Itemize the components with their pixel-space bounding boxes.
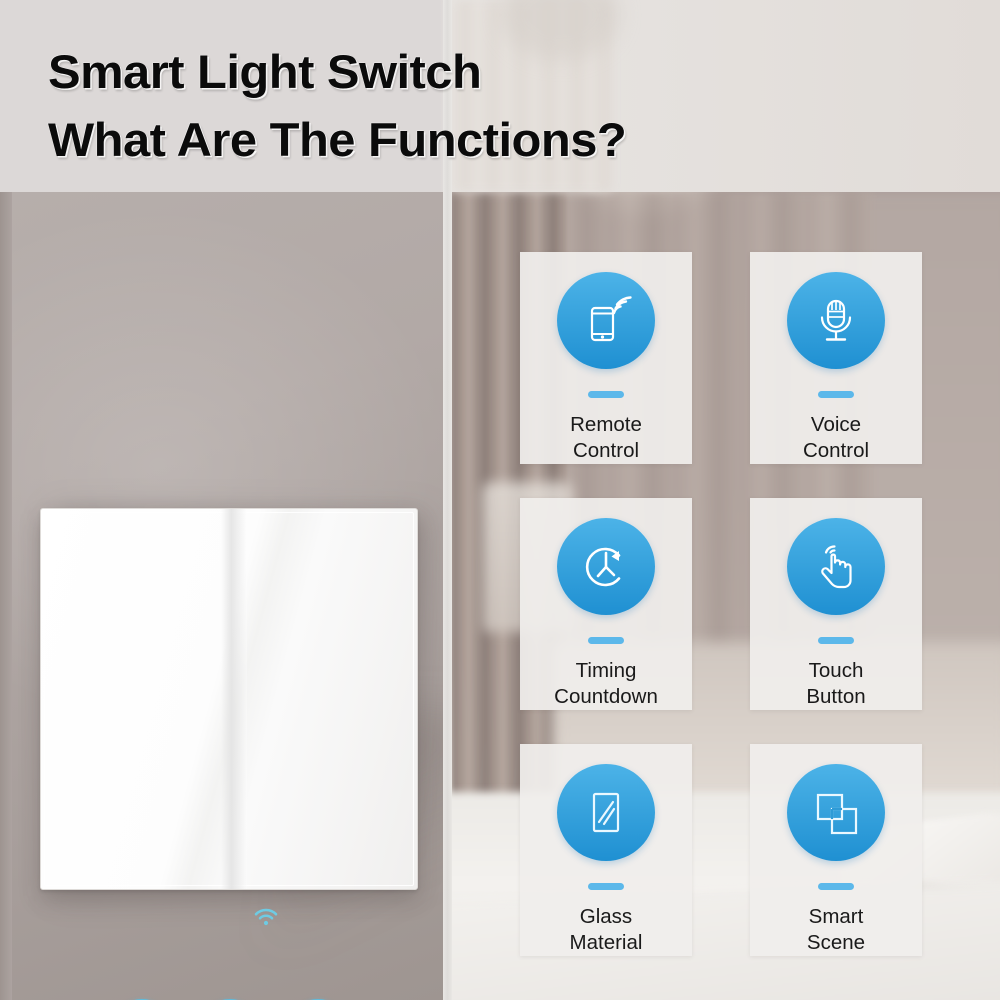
feature-card-remote-control[interactable]: Remote Control	[520, 252, 692, 464]
title-line-1: Smart Light Switch	[48, 38, 626, 106]
feature-label: Voice Control	[803, 412, 869, 464]
microphone-icon	[787, 272, 885, 369]
clock-arrow-icon	[557, 518, 655, 615]
feature-label-line2: Material	[570, 930, 643, 956]
touch-button-row	[41, 994, 419, 1000]
feature-label: Smart Scene	[807, 904, 865, 956]
tap-hand-icon	[787, 518, 885, 615]
wall-edge	[0, 192, 12, 1000]
product-photo-left	[0, 192, 443, 1000]
feature-label: Touch Button	[806, 658, 865, 710]
glass-panel-icon	[557, 764, 655, 861]
feature-card-voice-control[interactable]: Voice Control	[750, 252, 922, 464]
title-line-2: What Are The Functions?	[48, 106, 626, 174]
feature-label-line2: Button	[806, 684, 865, 710]
feature-label-line1: Touch	[806, 658, 865, 684]
feature-card-touch-button[interactable]: Touch Button	[750, 498, 922, 710]
feature-card-grid: Remote Control V	[520, 252, 920, 956]
feature-label: Remote Control	[570, 412, 642, 464]
phone-signal-icon	[557, 272, 655, 369]
feature-card-smart-scene[interactable]: Smart Scene	[750, 744, 922, 956]
feature-label-line2: Control	[570, 438, 642, 464]
feature-label-line1: Smart	[807, 904, 865, 930]
card-accent-dash	[818, 637, 854, 644]
smart-light-switch-panel[interactable]	[40, 508, 418, 890]
feature-label-line2: Scene	[807, 930, 865, 956]
feature-card-glass-material[interactable]: Glass Material	[520, 744, 692, 956]
card-accent-dash	[588, 637, 624, 644]
feature-label-line1: Voice	[803, 412, 869, 438]
feature-label-line2: Control	[803, 438, 869, 464]
card-accent-dash	[818, 391, 854, 398]
feature-label-line1: Timing	[554, 658, 658, 684]
feature-label-line1: Glass	[570, 904, 643, 930]
feature-label: Glass Material	[570, 904, 643, 956]
feature-label-line2: Countdown	[554, 684, 658, 710]
panel-glass-reflection	[221, 509, 247, 889]
feature-label-line1: Remote	[570, 412, 642, 438]
card-accent-dash	[588, 883, 624, 890]
feature-card-timing-countdown[interactable]: Timing Countdown	[520, 498, 692, 710]
wifi-indicator-icon	[253, 907, 279, 927]
overlapping-squares-icon	[787, 764, 885, 861]
card-accent-dash	[818, 883, 854, 890]
card-accent-dash	[588, 391, 624, 398]
feature-label: Timing Countdown	[554, 658, 658, 710]
infographic-canvas: Smart Light Switch What Are The Function…	[0, 0, 1000, 1000]
page-title: Smart Light Switch What Are The Function…	[48, 38, 604, 174]
